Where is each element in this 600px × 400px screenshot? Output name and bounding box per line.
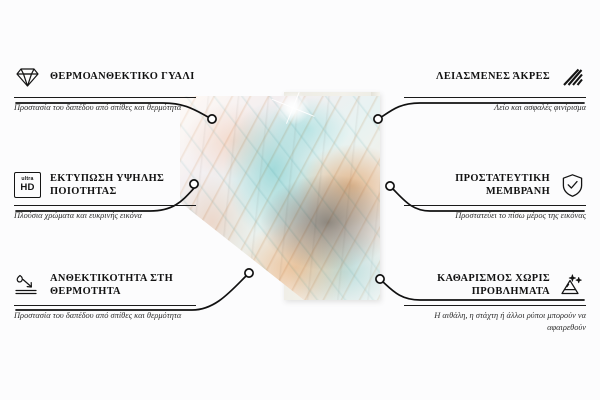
- feature-header: ultra HD ΕΚΤΥΠΩΣΗ ΥΨΗΛΗΣ ΠΟΙΟΤΗΤΑΣ: [14, 170, 196, 200]
- polished-edges-icon: [559, 64, 586, 91]
- feature-header: ΑΝΘΕΚΤΙΚΟΤΗΤΑ ΣΤΗ ΘΕΡΜΟΤΗΤΑ: [14, 270, 196, 300]
- product-image: [180, 96, 398, 308]
- feature-title: ΑΝΘΕΚΤΙΚΟΤΗΤΑ ΣΤΗ ΘΕΡΜΟΤΗΤΑ: [50, 272, 196, 299]
- feature-divider: [404, 305, 586, 306]
- feature-title: ΠΡΟΣΤΑΤΕΥΤΙΚΗ ΜΕΜΒΡΑΝΗ: [404, 172, 550, 199]
- shield-check-icon: [559, 172, 586, 199]
- feature-subtitle: Η αιθάλη, η στάχτη ή άλλοι ρύποι μπορούν…: [404, 310, 586, 334]
- feature-divider: [404, 205, 586, 206]
- glass-panel: [180, 96, 380, 300]
- feature-divider: [404, 97, 586, 98]
- feature-title: ΕΚΤΥΠΩΣΗ ΥΨΗΛΗΣ ΠΟΙΟΤΗΤΑΣ: [50, 172, 196, 199]
- feature-header: ΚΑΘΑΡΙΣΜΟΣ ΧΩΡΙΣ ΠΡΟΒΛΗΜΑΤΑ: [404, 270, 586, 300]
- feature-divider: [14, 205, 196, 206]
- ultra-hd-icon: ultra HD: [14, 172, 41, 199]
- feature-title: ΛΕΙΑΣΜΕΝΕΣ ΆΚΡΕΣ: [436, 70, 550, 83]
- feature-subtitle: Προστασία του δαπέδου από σπίθες και θερ…: [14, 310, 196, 322]
- feature-divider: [14, 97, 196, 98]
- feature-subtitle: Πλούσια χρώματα και ευκρινής εικόνα: [14, 210, 196, 222]
- diamond-icon: [14, 64, 41, 91]
- feature-subtitle: Λείο και ασφαλές φινίρισμα: [404, 102, 586, 114]
- feature-title: ΘΕΡΜΟΑΝΘΕΚΤΙΚΟ ΓΥΑΛΙ: [50, 70, 195, 83]
- feature-title: ΚΑΘΑΡΙΣΜΟΣ ΧΩΡΙΣ ΠΡΟΒΛΗΜΑΤΑ: [404, 272, 550, 299]
- feature-header: ΘΕΡΜΟΑΝΘΕΚΤΙΚΟ ΓΥΑΛΙ: [14, 62, 196, 92]
- feature-thermoresistant-glass: ΘΕΡΜΟΑΝΘΕΚΤΙΚΟ ΓΥΑΛΙ Προστασία του δαπέδ…: [14, 62, 196, 114]
- feature-subtitle: Προστατεύει το πίσω μέρος της εικόνας: [404, 210, 586, 222]
- feature-heat-resistance: ΑΝΘΕΚΤΙΚΟΤΗΤΑ ΣΤΗ ΘΕΡΜΟΤΗΤΑ Προστασία το…: [14, 270, 196, 322]
- marble-veins: [180, 96, 380, 300]
- ultra-hd-icon-bottom-label: HD: [20, 183, 34, 193]
- sparkle-clean-icon: [559, 272, 586, 299]
- feature-divider: [14, 305, 196, 306]
- feature-polished-edges: ΛΕΙΑΣΜΕΝΕΣ ΆΚΡΕΣ Λείο και ασφαλές φινίρι…: [404, 62, 586, 114]
- feature-subtitle: Προστασία του δαπέδου από σπίθες και θερ…: [14, 102, 196, 114]
- feature-easy-cleaning: ΚΑΘΑΡΙΣΜΟΣ ΧΩΡΙΣ ΠΡΟΒΛΗΜΑΤΑ Η αιθάλη, η …: [404, 270, 586, 334]
- feature-header: ΛΕΙΑΣΜΕΝΕΣ ΆΚΡΕΣ: [404, 62, 586, 92]
- feature-protective-membrane: ΠΡΟΣΤΑΤΕΥΤΙΚΗ ΜΕΜΒΡΑΝΗ Προστατεύει το πί…: [404, 170, 586, 222]
- infographic-canvas: ΘΕΡΜΟΑΝΘΕΚΤΙΚΟ ΓΥΑΛΙ Προστασία του δαπέδ…: [0, 0, 600, 400]
- feature-high-quality-print: ultra HD ΕΚΤΥΠΩΣΗ ΥΨΗΛΗΣ ΠΟΙΟΤΗΤΑΣ Πλούσ…: [14, 170, 196, 222]
- flame-heat-resistance-icon: [14, 272, 41, 299]
- feature-header: ΠΡΟΣΤΑΤΕΥΤΙΚΗ ΜΕΜΒΡΑΝΗ: [404, 170, 586, 200]
